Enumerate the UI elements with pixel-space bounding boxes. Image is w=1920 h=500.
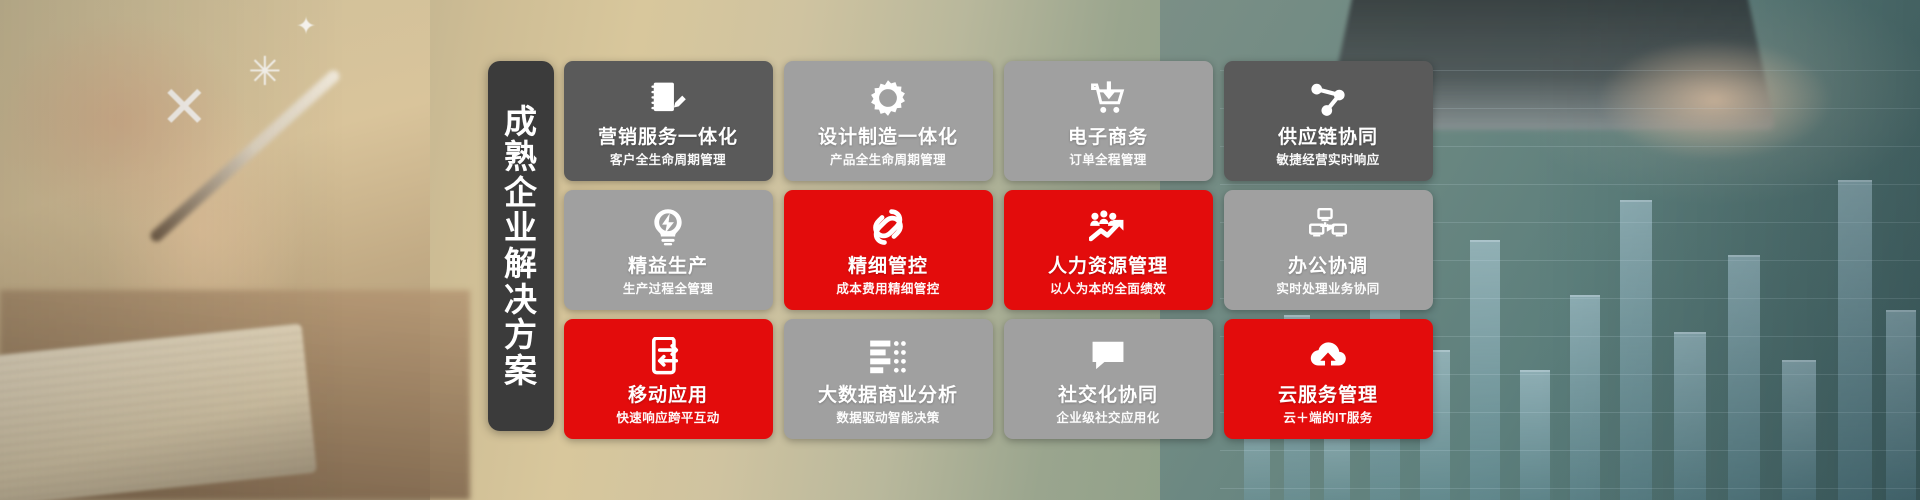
solution-card[interactable]: 供应链协同敏捷经营实时响应 (1224, 61, 1433, 181)
network-share-icon (1305, 78, 1351, 118)
solution-card-subtitle: 以人为本的全面绩效 (1050, 282, 1166, 296)
solution-card-title: 云服务管理 (1278, 385, 1378, 407)
solution-card-subtitle: 客户全生命周期管理 (610, 153, 726, 167)
chain-link-icon (865, 207, 911, 247)
solution-card[interactable]: 营销服务一体化客户全生命周期管理 (564, 61, 773, 181)
solution-card[interactable]: 精益生产生产过程全管理 (564, 190, 773, 310)
solution-card-subtitle: 云＋端的IT服务 (1283, 411, 1372, 425)
notebook-pencil-icon (645, 78, 691, 118)
page-title-char: 业 (504, 210, 537, 246)
solution-card-title: 设计制造一体化 (818, 127, 958, 149)
solution-card[interactable]: 社交化协同企业级社交应用化 (1004, 319, 1213, 439)
solution-card-title: 营销服务一体化 (598, 127, 738, 149)
solution-card-subtitle: 实时处理业务协同 (1276, 282, 1379, 296)
lightbulb-bolt-icon (645, 207, 691, 247)
solution-card-title: 办公协调 (1288, 256, 1368, 278)
solution-card-title: 社交化协同 (1058, 385, 1158, 407)
solution-card-subtitle: 产品全生命周期管理 (830, 153, 946, 167)
cloud-upload-icon (1305, 336, 1351, 376)
page-title-char: 熟 (504, 139, 537, 175)
solution-card[interactable]: 办公协调实时处理业务协同 (1224, 190, 1433, 310)
solution-card-subtitle: 数据驱动智能决策 (836, 411, 939, 425)
page-title-char: 成 (504, 104, 537, 140)
solution-card[interactable]: 精细管控成本费用精细管控 (784, 190, 993, 310)
solution-card-grid: 营销服务一体化客户全生命周期管理设计制造一体化产品全生命周期管理电子商务订单全程… (564, 61, 1433, 439)
solution-card-subtitle: 敏捷经营实时响应 (1276, 153, 1379, 167)
page-title-char: 企 (504, 175, 537, 211)
solutions-board: 成熟企业解决方案 营销服务一体化客户全生命周期管理设计制造一体化产品全生命周期管… (488, 61, 1433, 439)
page-title-char: 决 (504, 282, 537, 318)
connected-computers-icon (1305, 207, 1351, 247)
solution-card-title: 供应链协同 (1278, 127, 1378, 149)
solution-card-subtitle: 订单全程管理 (1069, 153, 1146, 167)
solution-card-title: 电子商务 (1068, 127, 1148, 149)
solution-card-title: 大数据商业分析 (818, 385, 958, 407)
page-title-char: 案 (504, 353, 537, 389)
solution-card[interactable]: 移动应用快速响应跨平互动 (564, 319, 773, 439)
solution-card[interactable]: 设计制造一体化产品全生命周期管理 (784, 61, 993, 181)
page-title-char: 方 (504, 317, 537, 353)
people-growth-arrow-icon (1085, 207, 1131, 247)
solution-card[interactable]: 大数据商业分析数据驱动智能决策 (784, 319, 993, 439)
solution-card-title: 移动应用 (628, 385, 708, 407)
solution-card-subtitle: 快速响应跨平互动 (616, 411, 719, 425)
solution-card-subtitle: 生产过程全管理 (623, 282, 713, 296)
chat-bubbles-icon (1085, 336, 1131, 376)
solution-card[interactable]: 人力资源管理以人为本的全面绩效 (1004, 190, 1213, 310)
page-title-char: 解 (504, 246, 537, 282)
solution-card-subtitle: 成本费用精细管控 (836, 282, 939, 296)
solution-card[interactable]: 电子商务订单全程管理 (1004, 61, 1213, 181)
page-title: 成熟企业解决方案 (488, 61, 554, 431)
solution-card-title: 精细管控 (848, 256, 928, 278)
shopping-cart-download-icon (1085, 78, 1131, 118)
mobile-exchange-icon (645, 336, 691, 376)
data-bars-icon (865, 336, 911, 376)
solution-card-subtitle: 企业级社交应用化 (1056, 411, 1159, 425)
solution-card-title: 精益生产 (628, 256, 708, 278)
gear-person-icon (865, 78, 911, 118)
solution-card-title: 人力资源管理 (1048, 256, 1168, 278)
solution-card[interactable]: 云服务管理云＋端的IT服务 (1224, 319, 1433, 439)
